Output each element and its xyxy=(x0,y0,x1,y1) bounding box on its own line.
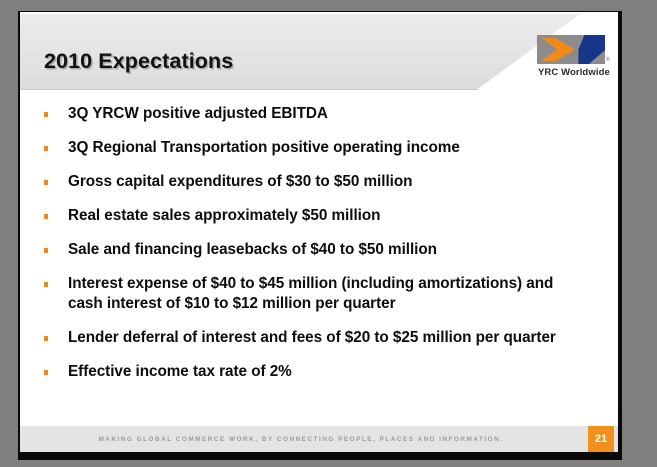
bullet-dot-icon xyxy=(44,146,48,151)
footer-tagline: MAKING GLOBAL COMMERCE WORK, BY CONNECTI… xyxy=(20,426,582,452)
bullet-dot-icon xyxy=(44,336,48,341)
list-item: Real estate sales approximately $50 mill… xyxy=(30,206,616,226)
slide-canvas: 2010 Expectations ® YRC Worldwide 3Q YRC… xyxy=(20,12,618,457)
registered-trademark-icon: ® xyxy=(606,57,610,63)
list-item: Interest expense of $40 to $45 million (… xyxy=(30,274,616,313)
list-item-label: 3Q YRCW positive adjusted EBITDA xyxy=(68,104,616,124)
list-item-label: Effective income tax rate of 2% xyxy=(68,362,616,382)
brand-logo: ® YRC Worldwide xyxy=(537,35,611,83)
bullet-dot-icon xyxy=(44,214,48,219)
bullet-list: 3Q YRCW positive adjusted EBITDA 3Q Regi… xyxy=(30,104,616,396)
list-item-label: Lender deferral of interest and fees of … xyxy=(68,328,616,348)
bullet-dot-icon xyxy=(44,282,48,287)
presentation-viewport: 2010 Expectations ® YRC Worldwide 3Q YRC… xyxy=(0,0,657,467)
list-item-label: Sale and financing leasebacks of $40 to … xyxy=(68,240,616,260)
slide-footer: MAKING GLOBAL COMMERCE WORK, BY CONNECTI… xyxy=(20,426,618,452)
bullet-dot-icon xyxy=(44,248,48,253)
list-item-label: Real estate sales approximately $50 mill… xyxy=(68,206,616,226)
bullet-dot-icon xyxy=(44,370,48,375)
list-item: Gross capital expenditures of $30 to $50… xyxy=(30,172,616,192)
page-number-badge: 21 xyxy=(588,426,614,452)
list-item-label: Interest expense of $40 to $45 million (… xyxy=(68,274,616,313)
bullet-dot-icon xyxy=(44,180,48,185)
list-item-line-1: Interest expense of $40 to $45 million (… xyxy=(68,275,553,292)
list-item-line-2: cash interest of $10 to $12 million per … xyxy=(68,294,616,314)
slide-bottom-edge xyxy=(20,452,618,457)
list-item-label: Gross capital expenditures of $30 to $50… xyxy=(68,172,616,192)
list-item: 3Q YRCW positive adjusted EBITDA xyxy=(30,104,616,124)
yrc-worldwide-logo-icon xyxy=(537,35,605,64)
page-title: 2010 Expectations xyxy=(44,49,233,74)
list-item: Effective income tax rate of 2% xyxy=(30,362,616,382)
list-item: 3Q Regional Transportation positive oper… xyxy=(30,138,616,158)
brand-name-label: YRC Worldwide xyxy=(538,67,610,78)
slide-header-underline xyxy=(20,89,478,90)
list-item: Lender deferral of interest and fees of … xyxy=(30,328,616,348)
list-item: Sale and financing leasebacks of $40 to … xyxy=(30,240,616,260)
orange-chevron-icon xyxy=(541,35,575,64)
bullet-dot-icon xyxy=(44,112,48,117)
list-item-label: 3Q Regional Transportation positive oper… xyxy=(68,138,616,158)
